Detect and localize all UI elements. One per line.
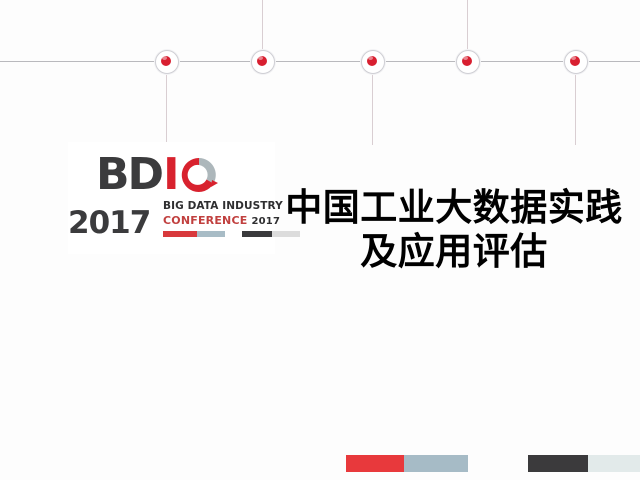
timeline-node-gloss [162,56,167,60]
timeline-graphic [0,0,640,150]
timeline-node-gloss [368,56,373,60]
bottom-bar-red [346,455,404,472]
logo-subtitle-industry: BIG DATA INDUSTRY [163,200,283,212]
timeline-node-ring [251,50,275,74]
bottom-accent-bars [0,455,640,472]
timeline-node-gloss [463,56,468,60]
timeline-node-gloss [571,56,576,60]
circular-arrow-c-mark-icon [179,155,219,195]
logo-year-big: 2017 [68,208,150,239]
timeline-rail [0,61,640,62]
logo-bar-blue [197,231,225,237]
timeline-node-ring [456,50,480,74]
slide-title-line-1: 中国工业大数据实践 [268,186,640,230]
timeline-node-ring [564,50,588,74]
logo-conference-word: CONFERENCE [163,214,247,227]
bottom-bar-light [588,455,640,472]
logo-subtitle-conference: CONFERENCE 2017 [163,214,280,227]
slide-title: 中国工业大数据实践 及应用评估 [268,186,640,275]
logo-text-bd: BD [96,153,162,197]
timeline-node-gloss [258,56,263,60]
logo-text-i: I [163,153,178,197]
presentation-slide: BD I BIG DATA INDUSTRY CONFERENCE 2017 2… [0,0,640,480]
bottom-bar-dark [528,455,588,472]
timeline-node-ring [361,50,385,74]
timeline-node-ring [155,50,179,74]
logo-bar-gap [225,231,242,237]
logo-bar-red [163,231,197,237]
logo-wordmark: BD I [96,152,219,198]
conference-logo: BD I BIG DATA INDUSTRY CONFERENCE 2017 2… [68,142,275,254]
bottom-bar-blue [404,455,468,472]
slide-title-line-2: 及应用评估 [268,230,640,274]
